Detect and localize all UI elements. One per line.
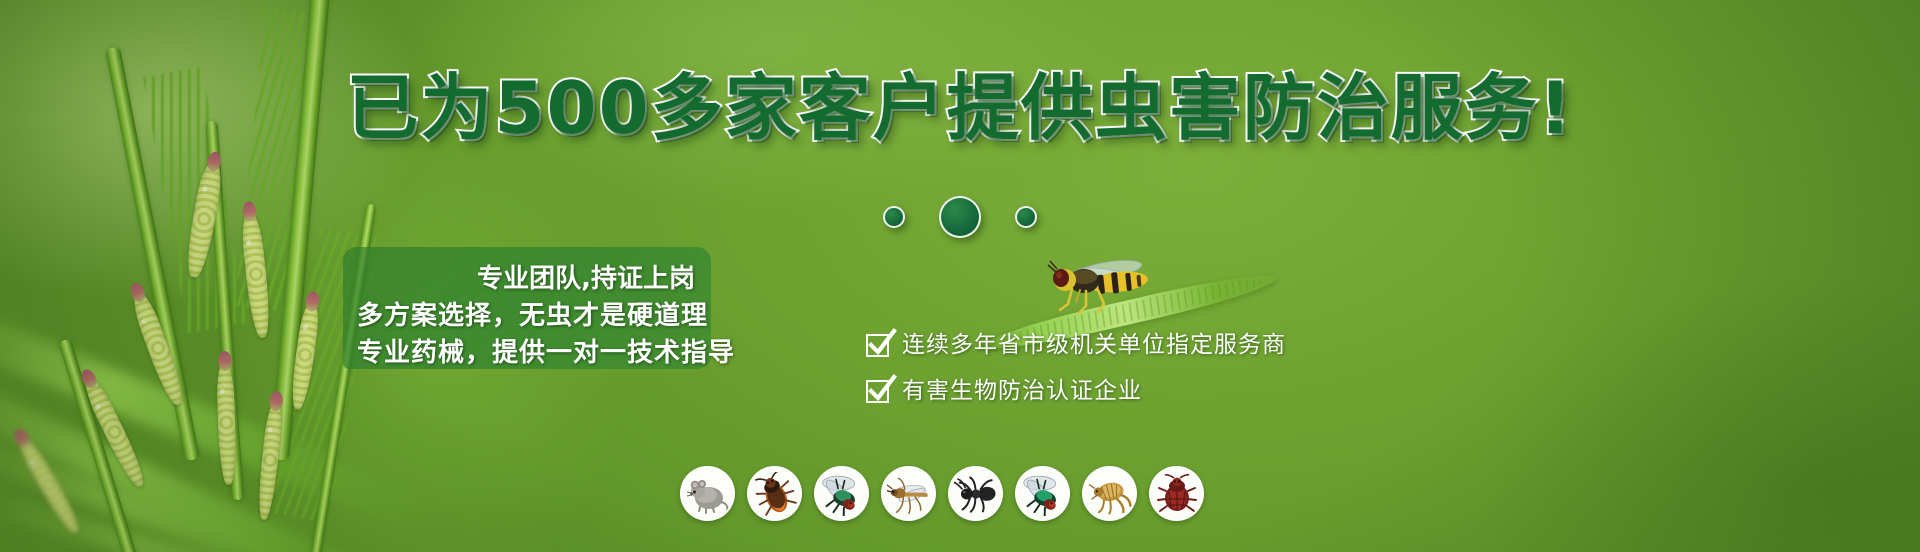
pest-icon-mouse[interactable]	[680, 466, 735, 521]
pest-icon-bedbug[interactable]	[1149, 466, 1204, 521]
banner-headline: 已为500多家客户提供虫害防治服务!	[0, 72, 1920, 144]
bedbug-icon	[1155, 472, 1199, 516]
mouse-icon	[686, 472, 730, 516]
credential-item: 有害生物防治认证企业	[866, 380, 1286, 403]
ant-icon	[954, 472, 998, 516]
blowfly-icon	[1021, 472, 1065, 516]
credential-label: 有害生物防治认证企业	[902, 380, 1142, 403]
highlight-line-2: 多方案选择，无虫才是硬道理	[357, 295, 695, 332]
pest-icon-ant[interactable]	[948, 466, 1003, 521]
checkbox-checked-icon	[866, 380, 889, 403]
highlight-line-1: 专业团队,持证上岗	[357, 258, 695, 295]
decor-dot-small-right	[1015, 206, 1037, 228]
fly-icon	[820, 472, 864, 516]
pest-icon-cockroach[interactable]	[747, 466, 802, 521]
pest-type-icon-strip	[680, 466, 1204, 521]
cockroach-icon	[753, 472, 797, 516]
pest-icon-fly[interactable]	[814, 466, 869, 521]
pest-icon-mosquito[interactable]	[881, 466, 936, 521]
pest-icon-blowfly[interactable]	[1015, 466, 1070, 521]
checkbox-checked-icon	[866, 334, 889, 357]
credential-item: 连续多年省市级机关单位指定服务商	[866, 334, 1286, 357]
service-highlights-panel: 专业团队,持证上岗 多方案选择，无虫才是硬道理 专业药械，提供一对一技术指导	[343, 247, 711, 369]
pest-icon-flea[interactable]	[1082, 466, 1137, 521]
flea-icon	[1088, 472, 1132, 516]
banner-headline-text: 已为500多家客户提供虫害防治服务!	[346, 66, 1573, 150]
credential-label: 连续多年省市级机关单位指定服务商	[902, 334, 1286, 357]
credentials-list: 连续多年省市级机关单位指定服务商 有害生物防治认证企业	[866, 334, 1286, 403]
mosquito-icon	[887, 472, 931, 516]
decor-dot-large-center	[939, 196, 981, 238]
decorative-dot-row	[0, 196, 1920, 238]
pest-control-hero-banner: 已为500多家客户提供虫害防治服务! 专业团队,持证上岗 多方案选择，无虫才是硬…	[0, 0, 1920, 552]
decor-dot-small-left	[883, 206, 905, 228]
highlight-line-3: 专业药械，提供一对一技术指导	[357, 332, 695, 369]
